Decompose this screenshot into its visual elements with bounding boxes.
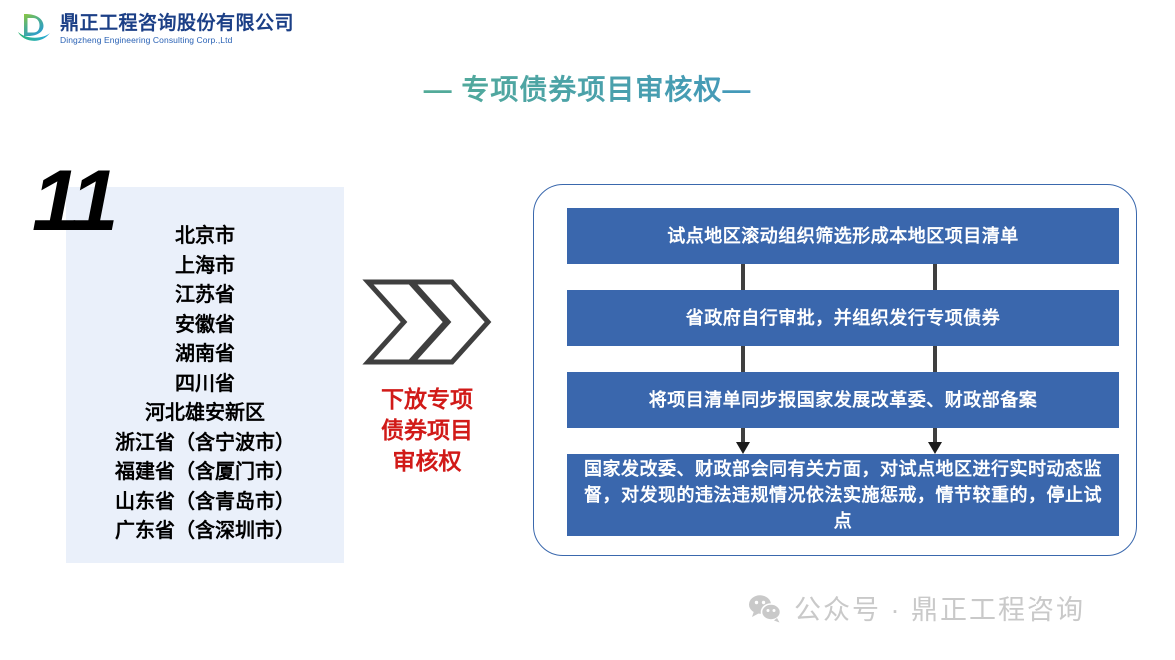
list-item: 江苏省	[66, 281, 344, 311]
connector-line	[933, 264, 937, 290]
region-list: 北京市 上海市 江苏省 安徽省 湖南省 四川省 河北雄安新区 浙江省（含宁波市）…	[66, 222, 344, 547]
list-item: 浙江省（含宁波市）	[66, 429, 344, 459]
flow-step-label: 试点地区滚动组织筛选形成本地区项目清单	[657, 222, 1029, 250]
connector-line	[933, 346, 937, 372]
company-name-en: Dingzheng Engineering Consulting Corp.,L…	[60, 36, 294, 45]
company-name-cn: 鼎正工程咨询股份有限公司	[60, 14, 294, 33]
watermark-text: 公众号 · 鼎正工程咨询	[794, 588, 1085, 627]
flow-step-box[interactable]: 省政府自行审批，并组织发行专项债券	[567, 290, 1119, 346]
flow-step-label: 将项目清单同步报国家发展改革委、财政部备案	[639, 386, 1048, 414]
delegation-caption-line: 下放专项	[352, 384, 502, 415]
flow-diagram: 试点地区滚动组织筛选形成本地区项目清单 省政府自行审批，并组织发行专项债券 将项…	[533, 184, 1137, 556]
connector-line	[741, 264, 745, 290]
company-logo: 鼎正工程咨询股份有限公司 Dingzheng Engineering Consu…	[14, 6, 264, 52]
logo-wordmark: 鼎正工程咨询股份有限公司 Dingzheng Engineering Consu…	[60, 14, 294, 45]
connector-line	[741, 346, 745, 372]
slide-canvas: 鼎正工程咨询股份有限公司 Dingzheng Engineering Consu…	[0, 0, 1175, 660]
list-item: 安徽省	[66, 311, 344, 341]
flow-step-box[interactable]: 试点地区滚动组织筛选形成本地区项目清单	[567, 208, 1119, 264]
flow-step-label: 省政府自行审批，并组织发行专项债券	[676, 304, 1011, 332]
delegation-caption-line: 审核权	[352, 446, 502, 477]
wechat-icon	[748, 593, 782, 623]
list-item: 福建省（含厦门市）	[66, 458, 344, 488]
page-title: — 专项债券项目审核权—	[0, 68, 1175, 108]
list-item: 湖南省	[66, 340, 344, 370]
delegation-caption: 下放专项 债券项目 审核权	[352, 384, 502, 477]
delegation-caption-line: 债券项目	[352, 415, 502, 446]
list-item: 山东省（含青岛市）	[66, 488, 344, 518]
flow-step-box[interactable]: 将项目清单同步报国家发展改革委、财政部备案	[567, 372, 1119, 428]
flow-step-box[interactable]: 国家发改委、财政部会同有关方面，对试点地区进行实时动态监督，对发现的违法违规情况…	[567, 454, 1119, 536]
leaf-d-logo-icon	[14, 9, 54, 49]
double-chevron-right-icon	[362, 276, 492, 368]
list-item: 上海市	[66, 252, 344, 282]
watermark: 公众号 · 鼎正工程咨询	[748, 588, 1085, 627]
list-item: 河北雄安新区	[66, 399, 344, 429]
flow-step-label: 国家发改委、财政部会同有关方面，对试点地区进行实时动态监督，对发现的违法违规情况…	[567, 456, 1119, 534]
list-item: 广东省（含深圳市）	[66, 517, 344, 547]
step-number: 11	[32, 158, 115, 244]
list-item: 四川省	[66, 370, 344, 400]
